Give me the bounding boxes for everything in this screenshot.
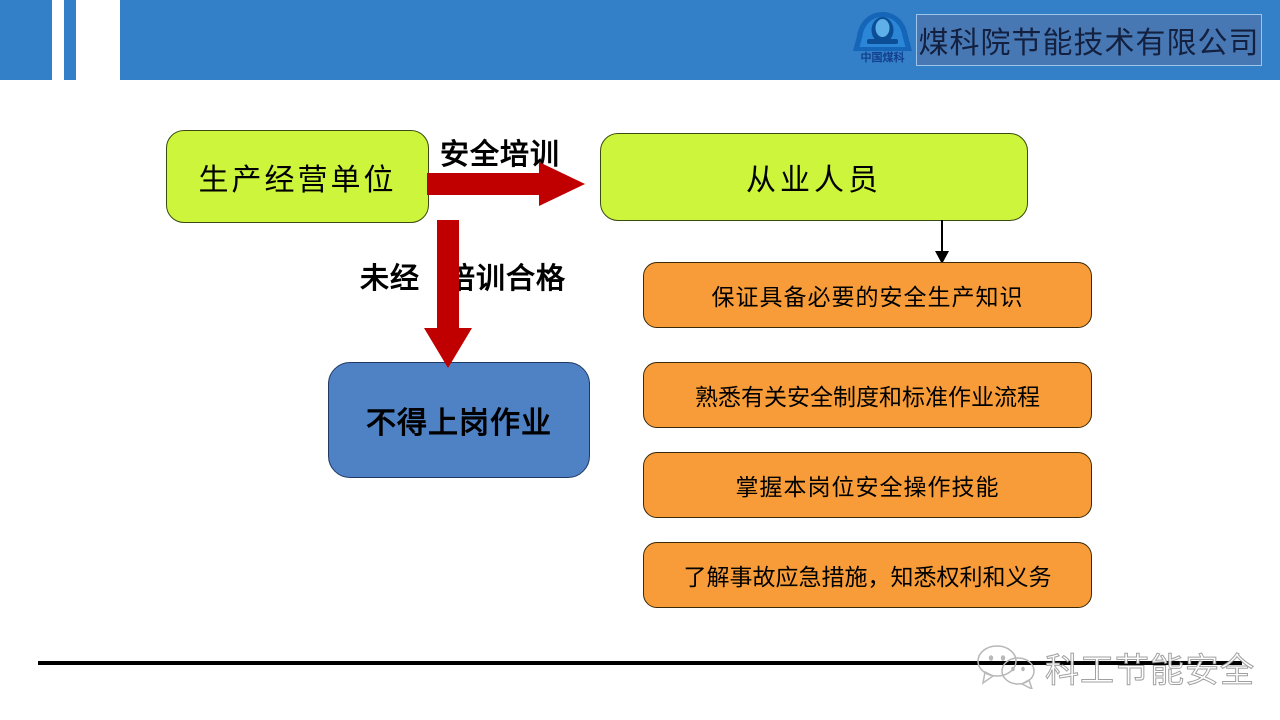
employee-box-label: 从业人员 — [746, 155, 882, 199]
requirement-item[interactable]: 熟悉有关安全制度和标准作业流程 — [643, 362, 1092, 428]
logo-caption: 中国煤科 — [845, 52, 920, 64]
red-down-arrow-icon — [420, 220, 476, 370]
red-right-arrow-icon — [427, 160, 587, 208]
double-chevron-right-icon — [52, 0, 202, 80]
requirement-item-label: 掌握本岗位安全操作技能 — [736, 468, 1000, 502]
producer-box-label: 生产经营单位 — [199, 155, 397, 199]
wechat-icon — [975, 645, 1039, 689]
watermark-text: 科工节能安全 — [1045, 643, 1255, 692]
requirement-item-label: 保证具备必要的安全生产知识 — [712, 278, 1024, 312]
black-thin-down-arrow-icon — [930, 220, 954, 266]
requirement-item[interactable]: 掌握本岗位安全操作技能 — [643, 452, 1092, 518]
company-title: 煤科院节能技术有限公司 — [919, 18, 1260, 62]
producer-box[interactable]: 生产经营单位 — [166, 130, 429, 223]
footer-watermark: 科工节能安全 — [975, 638, 1265, 696]
requirement-item-label: 了解事故应急措施，知悉权利和义务 — [684, 558, 1052, 592]
no-work-box[interactable]: 不得上岗作业 — [328, 362, 590, 478]
header-band: 中国煤科 煤科院节能技术有限公司 — [0, 0, 1280, 80]
requirement-item[interactable]: 了解事故应急措施，知悉权利和义务 — [643, 542, 1092, 608]
untrained-label: 未经 — [360, 255, 420, 297]
employee-box[interactable]: 从业人员 — [600, 133, 1028, 221]
requirement-item[interactable]: 保证具备必要的安全生产知识 — [643, 262, 1092, 328]
no-work-box-label: 不得上岗作业 — [366, 398, 552, 442]
footer-divider — [38, 661, 1242, 665]
requirement-item-label: 熟悉有关安全制度和标准作业流程 — [695, 378, 1040, 412]
company-title-box: 煤科院节能技术有限公司 — [916, 14, 1262, 66]
